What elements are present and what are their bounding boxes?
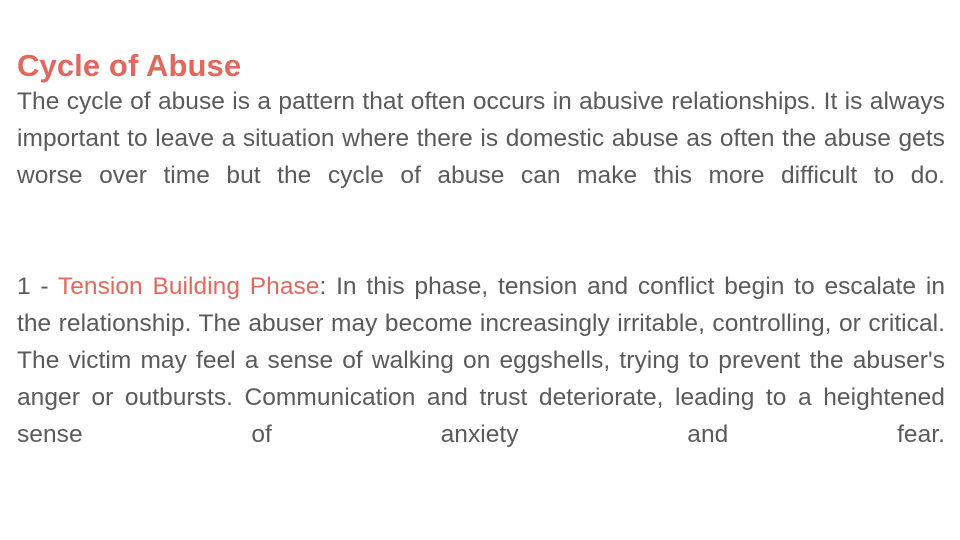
paragraph-spacer	[17, 231, 945, 268]
paragraph-intro: The cycle of abuse is a pattern that oft…	[17, 83, 945, 231]
phase-number-label: 1 -	[17, 273, 58, 300]
paragraph-intro-text: The cycle of abuse is a pattern that oft…	[17, 88, 945, 189]
slide-body: The cycle of abuse is a pattern that oft…	[17, 83, 945, 490]
page-title: Cycle of Abuse	[17, 47, 937, 85]
slide-canvas: Cycle of Abuse The cycle of abuse is a p…	[0, 0, 960, 540]
paragraph-phase-one: 1 - Tension Building Phase: In this phas…	[17, 268, 945, 490]
phase-name-highlight: Tension Building Phase	[58, 273, 320, 300]
